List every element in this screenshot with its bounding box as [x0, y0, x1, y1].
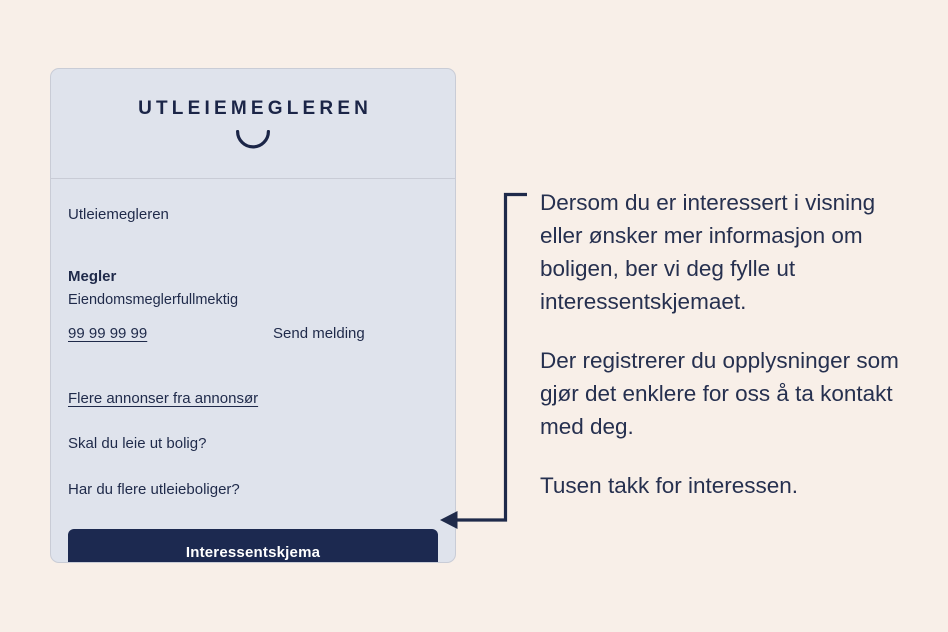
- annotation-text-block: Dersom du er interessert i visning eller…: [540, 186, 905, 502]
- annotation-paragraph-2: Der registrerer du opplysninger som gjør…: [540, 344, 905, 443]
- agent-contact-card: UTLEIEMEGLEREN Utleiemegleren Megler Eie…: [50, 68, 456, 563]
- agent-role: Megler: [68, 267, 438, 287]
- send-message-link[interactable]: Send melding: [273, 324, 365, 344]
- utleiemegleren-logo-wordmark: UTLEIEMEGLEREN: [134, 99, 372, 118]
- interessentskjema-button[interactable]: Interessentskjema: [68, 529, 438, 563]
- agent-phone-link[interactable]: 99 99 99 99: [68, 324, 273, 344]
- more-rental-properties-link[interactable]: Har du flere utleieboliger?: [68, 480, 438, 500]
- rent-out-property-link[interactable]: Skal du leie ut bolig?: [68, 434, 438, 454]
- annotation-paragraph-1: Dersom du er interessert i visning eller…: [540, 186, 905, 318]
- more-ads-from-advertiser-link[interactable]: Flere annonser fra annonsør: [68, 389, 258, 409]
- company-name: Utleiemegleren: [68, 205, 438, 225]
- card-body: Utleiemegleren Megler Eiendomsmeglerfull…: [51, 179, 455, 563]
- smile-arc-icon: [235, 130, 271, 149]
- agent-job-title: Eiendomsmeglerfullmektig: [68, 290, 438, 310]
- contact-row: 99 99 99 99 Send melding: [68, 324, 438, 344]
- card-header: UTLEIEMEGLEREN: [51, 69, 455, 179]
- annotation-paragraph-3: Tusen takk for interessen.: [540, 469, 905, 502]
